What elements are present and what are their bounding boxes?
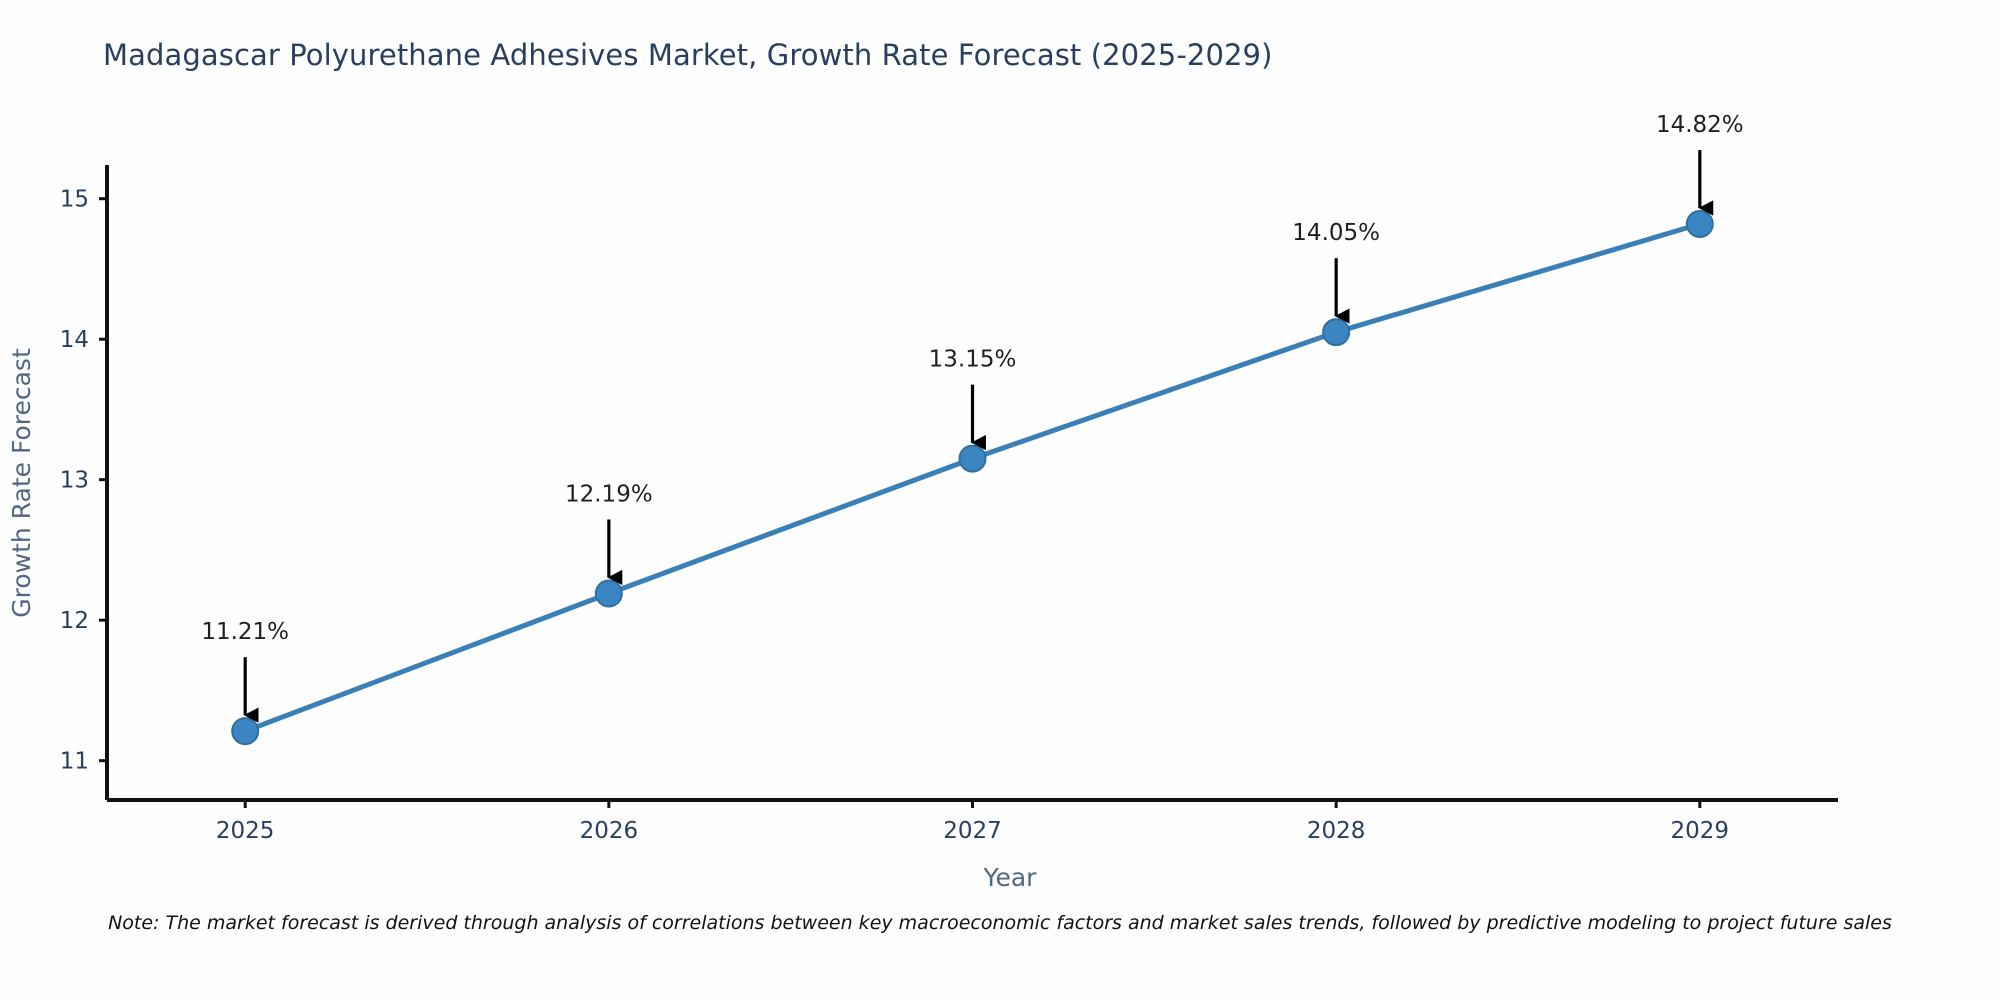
data-point-annotation-label: 14.82% (1656, 112, 1744, 138)
x-tick-label: 2026 (580, 818, 639, 844)
chart-container: Madagascar Polyurethane Adhesives Market… (0, 0, 2000, 1000)
y-tick-label: 12 (60, 608, 89, 634)
data-annotations-group: 11.21%12.19%13.15%14.05%14.82% (201, 112, 1743, 715)
y-axis-title: Growth Rate Forecast (7, 348, 36, 618)
x-axis-title: Year (983, 863, 1038, 892)
data-point-annotation-label: 13.15% (929, 347, 1017, 373)
x-tick-labels: 20252026202720282029 (216, 800, 1729, 844)
footnote-note: Note: The market forecast is derived thr… (0, 912, 2000, 934)
data-series-group (232, 211, 1713, 744)
data-point-annotation-label: 14.05% (1292, 220, 1380, 246)
line-chart-svg: Growth Rate Forecast Year 1112131415 202… (0, 0, 2000, 1000)
data-point-marker[interactable] (596, 580, 622, 606)
x-tick-label: 2025 (216, 818, 275, 844)
data-point-marker[interactable] (1323, 319, 1349, 345)
x-tick-label: 2027 (943, 818, 1002, 844)
series-line (245, 224, 1700, 731)
y-tick-label: 15 (60, 187, 89, 213)
data-point-marker[interactable] (960, 446, 986, 472)
x-tick-label: 2028 (1307, 818, 1366, 844)
y-tick-label: 13 (60, 468, 89, 494)
data-point-marker[interactable] (232, 718, 258, 744)
y-tick-label: 14 (60, 327, 89, 353)
x-tick-label: 2029 (1671, 818, 1730, 844)
y-tick-label: 11 (60, 749, 89, 775)
y-tick-labels: 1112131415 (60, 187, 107, 775)
data-point-marker[interactable] (1687, 211, 1713, 237)
data-point-annotation-label: 12.19% (565, 481, 653, 507)
data-point-annotation-label: 11.21% (201, 619, 289, 645)
